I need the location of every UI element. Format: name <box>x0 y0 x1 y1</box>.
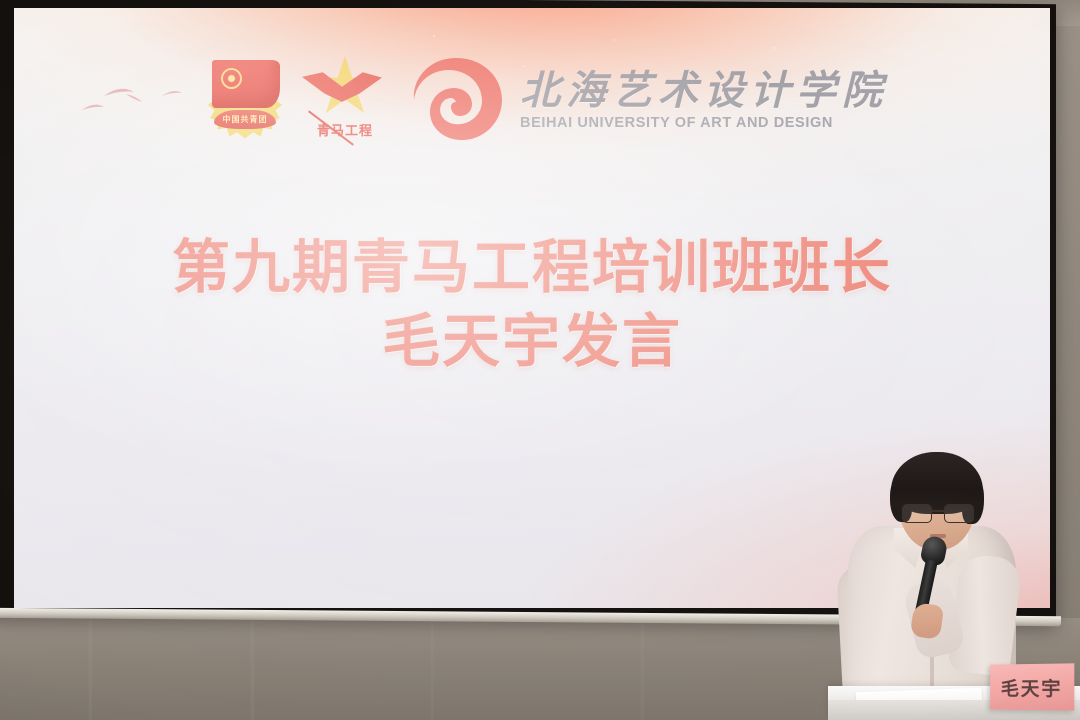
nameplate-text: 毛天宇 <box>1001 673 1063 701</box>
swirl-logo-svg <box>404 52 508 148</box>
slide-title-line-2: 毛天宇发言 <box>14 304 1050 378</box>
qingma-label: 青马工程 <box>302 120 388 139</box>
slide-title: 第九期青马工程培训班班长 毛天宇发言 <box>14 230 1050 378</box>
slide-title-line-1: 第九期青马工程培训班班长 <box>14 230 1050 304</box>
communist-youth-league-emblem: 中国共青团 <box>200 54 292 146</box>
glasses-lens-left <box>902 504 932 523</box>
university-name-cn: 北海艺术设计学院 <box>520 70 888 112</box>
university-name-en: BEIHAI UNIVERSITY OF ART AND DESIGN <box>520 115 888 131</box>
nameplate: 毛天宇 <box>990 663 1074 710</box>
flying-birds-icon <box>74 70 196 130</box>
eyeglasses-icon <box>902 504 974 522</box>
photo-scene: 中国共青团 青马工程 北海艺术设计学院 BEIHAI UNIVERSITY OF… <box>0 0 1080 720</box>
league-banner: 中国共青团 <box>214 110 276 129</box>
league-flag-shape <box>212 60 280 108</box>
slide-header: 中国共青团 青马工程 北海艺术设计学院 BEIHAI UNIVERSITY OF… <box>74 48 888 152</box>
university-name-block: 北海艺术设计学院 BEIHAI UNIVERSITY OF ART AND DE… <box>520 70 888 131</box>
glasses-lens-right <box>944 504 974 523</box>
qingma-star-logo: 青马工程 <box>294 52 398 148</box>
glasses-bridge <box>930 510 944 512</box>
birds-svg <box>74 70 196 130</box>
swirl-logo <box>404 52 508 148</box>
